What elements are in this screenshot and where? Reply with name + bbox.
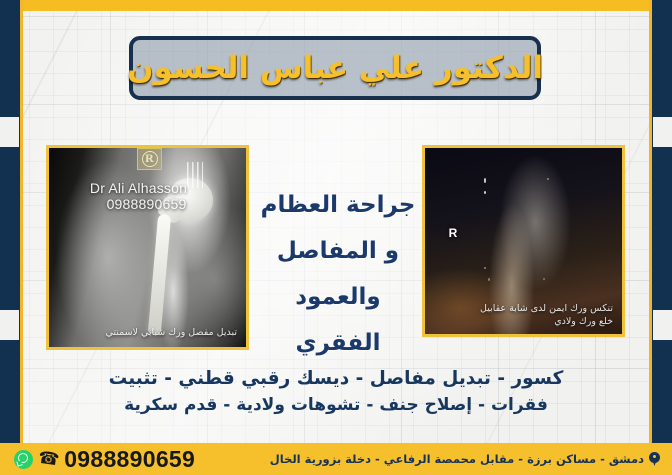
poster-canvas: الدكتور علي عباس الحسون R Dr Ali Alhasso… <box>0 0 672 475</box>
xray-left-caption: تبديل مفصل ورك شبابي لاسمنتي <box>105 326 237 339</box>
right-band-notch-lower <box>653 310 672 340</box>
xray-right-caption: تنكس ورك ايمن لدى شابة عقابيل خلع ورك ول… <box>480 302 613 328</box>
headline-line-3: والعمود الفقري <box>255 274 421 366</box>
xray-image-right: R تنكس ورك ايمن لدى شابة عقابيل خلع ورك … <box>422 145 625 337</box>
right-band-notch-upper <box>653 117 672 147</box>
left-band-notch-lower <box>0 310 19 340</box>
xray-right-speck-2 <box>484 191 486 194</box>
whatsapp-icon[interactable] <box>14 450 33 469</box>
specialty-headline: جراحة العظام و المفاصل والعمود الفقري <box>255 182 421 366</box>
location-pin-icon <box>649 452 660 467</box>
services-line-2: فقرات - إصلاح جنف - تشوهات ولادية - قدم … <box>23 392 649 418</box>
xray-image-left: R Dr Ali Alhasson 0988890659 تبديل مفصل … <box>46 145 249 350</box>
radiology-marker-letter: R <box>142 151 158 167</box>
services-list: كسور - تبديل مفاصل - ديسك رقبي قطني - تث… <box>23 366 649 418</box>
xray-left-film <box>49 148 246 347</box>
page-title: الدكتور علي عباس الحسون <box>127 50 543 86</box>
xray-right-caption-line-1: تنكس ورك ايمن لدى شابة عقابيل <box>480 302 613 315</box>
left-navy-band <box>0 0 23 475</box>
services-line-1: كسور - تبديل مفاصل - ديسك رقبي قطني - تث… <box>23 366 649 392</box>
headline-line-1: جراحة العظام <box>255 182 421 228</box>
footer-contact-bar: ☎ 0988890659 دمشق - مساكن برزة - مقابل م… <box>0 443 672 475</box>
xray-right-speck-3 <box>547 178 549 180</box>
doctor-name-banner: الدكتور علي عباس الحسون <box>129 36 541 100</box>
xray-right-speck-1 <box>484 178 486 183</box>
footer-phone-group[interactable]: ☎ 0988890659 <box>14 446 195 473</box>
right-navy-band <box>649 0 672 475</box>
watermark-doctor-name: Dr Ali Alhasson <box>46 180 240 196</box>
radiology-marker-badge-left: R <box>137 148 162 170</box>
footer-address-text: دمشق - مساكن برزة - مقابل محمصة الرفاعي … <box>270 452 644 466</box>
footer-phone-number[interactable]: 0988890659 <box>64 446 195 473</box>
footer-address-group: دمشق - مساكن برزة - مقابل محمصة الرفاعي … <box>270 452 660 467</box>
watermark-phone: 0988890659 <box>53 196 240 212</box>
left-band-notch-upper <box>0 117 19 147</box>
top-gold-band <box>0 0 672 11</box>
radiology-marker-right: R <box>449 226 458 240</box>
headline-line-2: و المفاصل <box>255 228 421 274</box>
phone-handset-icon[interactable]: ☎ <box>37 449 60 469</box>
xray-right-caption-line-2: خلع ورك ولادي <box>480 315 613 328</box>
